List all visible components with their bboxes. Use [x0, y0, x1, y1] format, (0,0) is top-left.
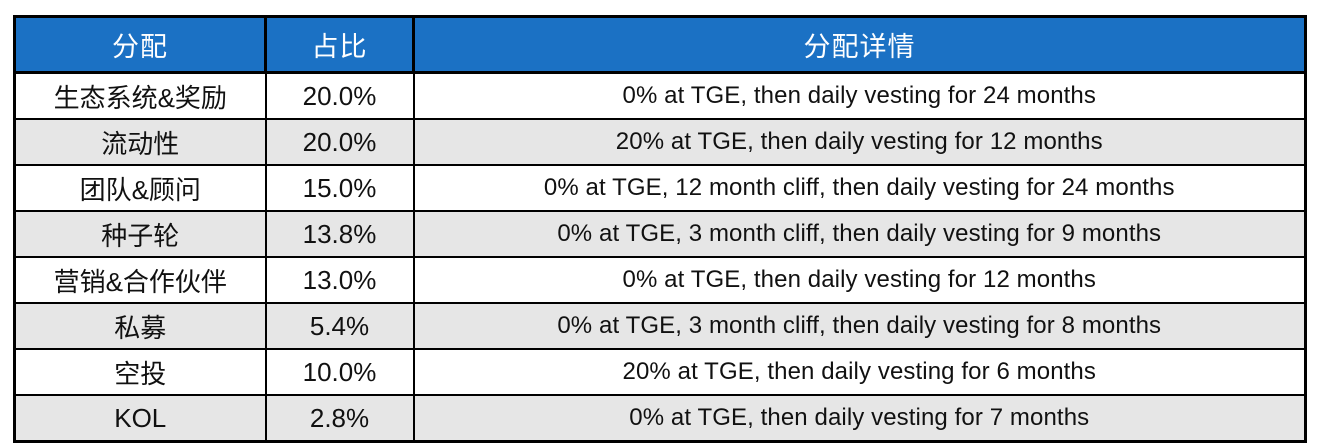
cell-allocation: 种子轮 [15, 211, 266, 257]
column-header-percentage: 占比 [266, 17, 414, 73]
cell-details: 0% at TGE, 3 month cliff, then daily ves… [414, 211, 1306, 257]
table-row: 营销&合作伙伴13.0%0% at TGE, then daily vestin… [15, 257, 1306, 303]
cell-percentage: 2.8% [266, 395, 414, 442]
cell-allocation: 营销&合作伙伴 [15, 257, 266, 303]
table-row: 种子轮13.8%0% at TGE, 3 month cliff, then d… [15, 211, 1306, 257]
cell-percentage: 15.0% [266, 165, 414, 211]
cell-percentage: 13.0% [266, 257, 414, 303]
table-header: 分配 占比 分配详情 [15, 17, 1306, 73]
cell-details: 20% at TGE, then daily vesting for 6 mon… [414, 349, 1306, 395]
cell-details: 0% at TGE, then daily vesting for 12 mon… [414, 257, 1306, 303]
cell-allocation: 团队&顾问 [15, 165, 266, 211]
table-row: 团队&顾问15.0%0% at TGE, 12 month cliff, the… [15, 165, 1306, 211]
cell-percentage: 20.0% [266, 119, 414, 165]
allocation-table-container: 分配 占比 分配详情 生态系统&奖励20.0%0% at TGE, then d… [13, 15, 1304, 420]
column-header-allocation: 分配 [15, 17, 266, 73]
cell-allocation: KOL [15, 395, 266, 442]
table-row: 流动性20.0%20% at TGE, then daily vesting f… [15, 119, 1306, 165]
cell-allocation: 流动性 [15, 119, 266, 165]
cell-percentage: 20.0% [266, 73, 414, 120]
table-row: 空投10.0%20% at TGE, then daily vesting fo… [15, 349, 1306, 395]
column-header-details: 分配详情 [414, 17, 1306, 73]
cell-details: 0% at TGE, 12 month cliff, then daily ve… [414, 165, 1306, 211]
cell-percentage: 10.0% [266, 349, 414, 395]
cell-percentage: 5.4% [266, 303, 414, 349]
table-row: KOL2.8%0% at TGE, then daily vesting for… [15, 395, 1306, 442]
cell-details: 20% at TGE, then daily vesting for 12 mo… [414, 119, 1306, 165]
table-row: 生态系统&奖励20.0%0% at TGE, then daily vestin… [15, 73, 1306, 120]
cell-allocation: 私募 [15, 303, 266, 349]
cell-allocation: 生态系统&奖励 [15, 73, 266, 120]
table-body: 生态系统&奖励20.0%0% at TGE, then daily vestin… [15, 73, 1306, 442]
allocation-table: 分配 占比 分配详情 生态系统&奖励20.0%0% at TGE, then d… [13, 15, 1307, 443]
cell-percentage: 13.8% [266, 211, 414, 257]
cell-allocation: 空投 [15, 349, 266, 395]
cell-details: 0% at TGE, then daily vesting for 7 mont… [414, 395, 1306, 442]
cell-details: 0% at TGE, then daily vesting for 24 mon… [414, 73, 1306, 120]
cell-details: 0% at TGE, 3 month cliff, then daily ves… [414, 303, 1306, 349]
table-row: 私募5.4%0% at TGE, 3 month cliff, then dai… [15, 303, 1306, 349]
table-header-row: 分配 占比 分配详情 [15, 17, 1306, 73]
